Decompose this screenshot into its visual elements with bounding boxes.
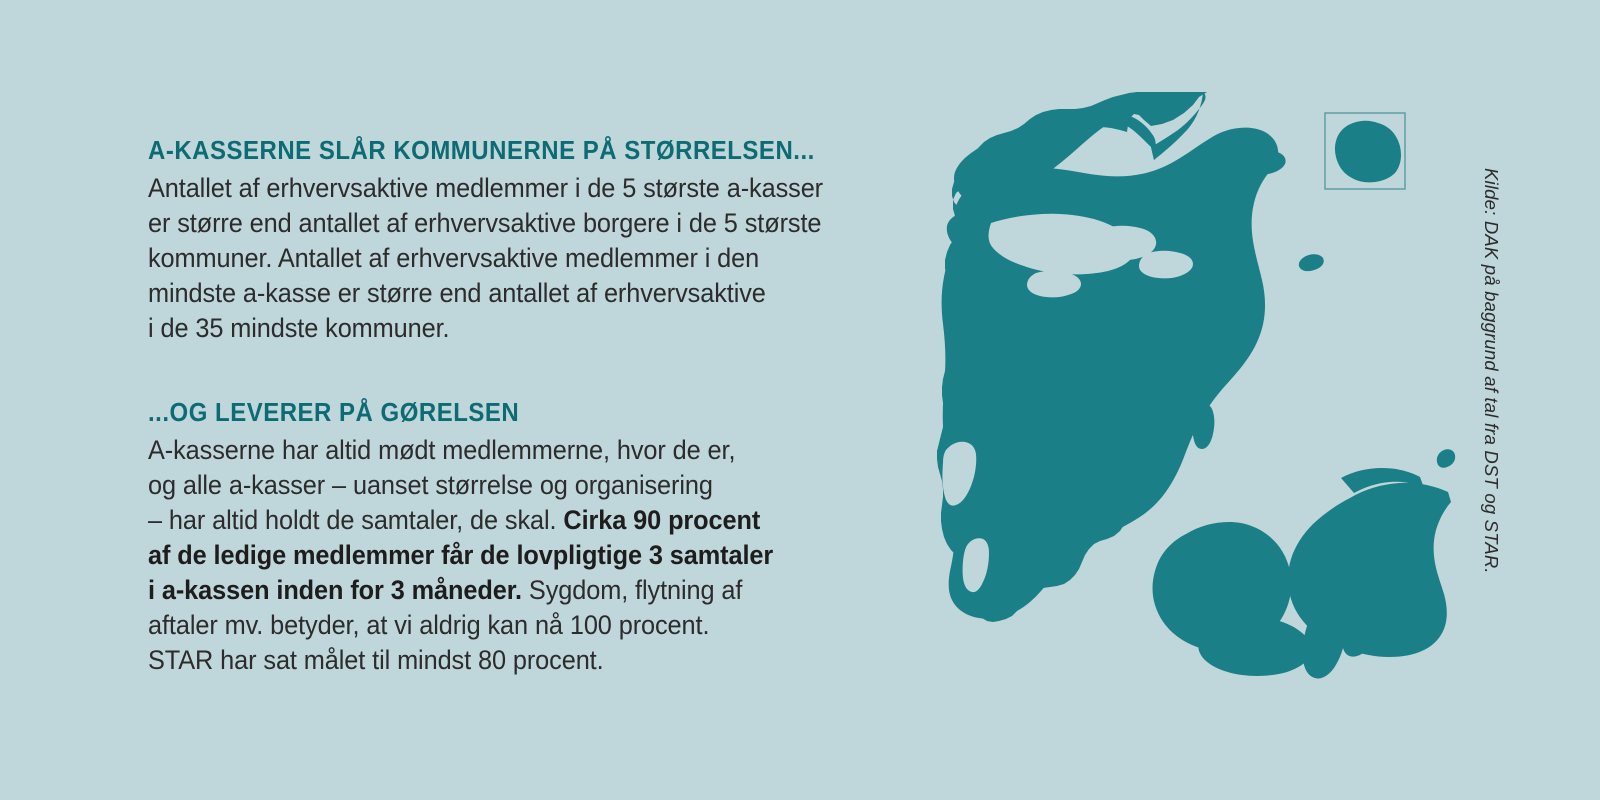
anholt xyxy=(1299,254,1324,271)
body-text-run-bold: i a-kassen inden for 3 måneder. xyxy=(148,575,522,605)
poster-canvas: A-KASSERNE SLÅR KOMMUNERNE PÅ STØRRELSEN… xyxy=(0,0,1600,800)
body-line: A-kasserne har altid mødt medlemmerne, h… xyxy=(148,433,874,468)
bornholm-inset xyxy=(1325,113,1405,189)
section-body-size: Antallet af erhvervsaktive medlemmer i d… xyxy=(148,171,874,346)
samsoe xyxy=(1193,403,1215,449)
body-line: aftaler mv. betyder, at vi aldrig kan nå… xyxy=(148,608,874,643)
body-line: Antallet af erhvervsaktive medlemmer i d… xyxy=(148,171,874,206)
text-column: A-KASSERNE SLÅR KOMMUNERNE PÅ STØRRELSEN… xyxy=(148,136,908,678)
section-heading-delivery: ...OG LEVERER PÅ GØRELSEN xyxy=(148,398,862,429)
body-line: og alle a-kasser – uanset størrelse og o… xyxy=(148,468,874,503)
body-line: kommuner. Antallet af erhvervsaktive med… xyxy=(148,241,874,276)
body-line: i a-kassen inden for 3 måneder. Sygdom, … xyxy=(148,573,874,608)
source-credit: Kilde: DAK på baggrund af tal fra DST og… xyxy=(1482,168,1501,628)
body-text-run: – har altid holdt de samtaler, de skal. xyxy=(148,505,563,535)
body-line: STAR har sat målet til mindst 80 procent… xyxy=(148,643,874,678)
body-text-run: Sygdom, flytning af xyxy=(522,575,742,605)
body-text-run: aftaler mv. betyder, at vi aldrig kan nå… xyxy=(148,610,709,640)
section-body-delivery: A-kasserne har altid mødt medlemmerne, h… xyxy=(148,433,874,678)
hesseloe xyxy=(1437,449,1455,468)
body-text-run: og alle a-kasser – uanset størrelse og o… xyxy=(148,470,713,500)
section-delivery: ...OG LEVERER PÅ GØRELSEN A-kasserne har… xyxy=(148,398,908,678)
denmark-map xyxy=(896,78,1456,702)
body-line: af de ledige medlemmer får de lovpligtig… xyxy=(148,538,874,573)
body-text-run-bold: af de ledige medlemmer får de lovpligtig… xyxy=(148,540,773,570)
body-line: i de 35 mindste kommuner. xyxy=(148,311,874,346)
body-line: mindste a-kasse er større end antallet a… xyxy=(148,276,874,311)
body-text-run-bold: Cirka 90 procent xyxy=(563,505,760,535)
section-heading-size: A-KASSERNE SLÅR KOMMUNERNE PÅ STØRRELSEN… xyxy=(148,136,862,167)
falster xyxy=(1303,610,1346,678)
body-text-run: A-kasserne har altid mødt medlemmerne, h… xyxy=(148,435,735,465)
denmark-map-svg xyxy=(896,78,1456,702)
section-size: A-KASSERNE SLÅR KOMMUNERNE PÅ STØRRELSEN… xyxy=(148,136,908,346)
bornholm-island xyxy=(1335,121,1401,183)
body-text-run: STAR har sat målet til mindst 80 procent… xyxy=(148,645,604,675)
body-line: – har altid holdt de samtaler, de skal. … xyxy=(148,503,874,538)
body-line: er større end antallet af erhvervsaktive… xyxy=(148,206,874,241)
